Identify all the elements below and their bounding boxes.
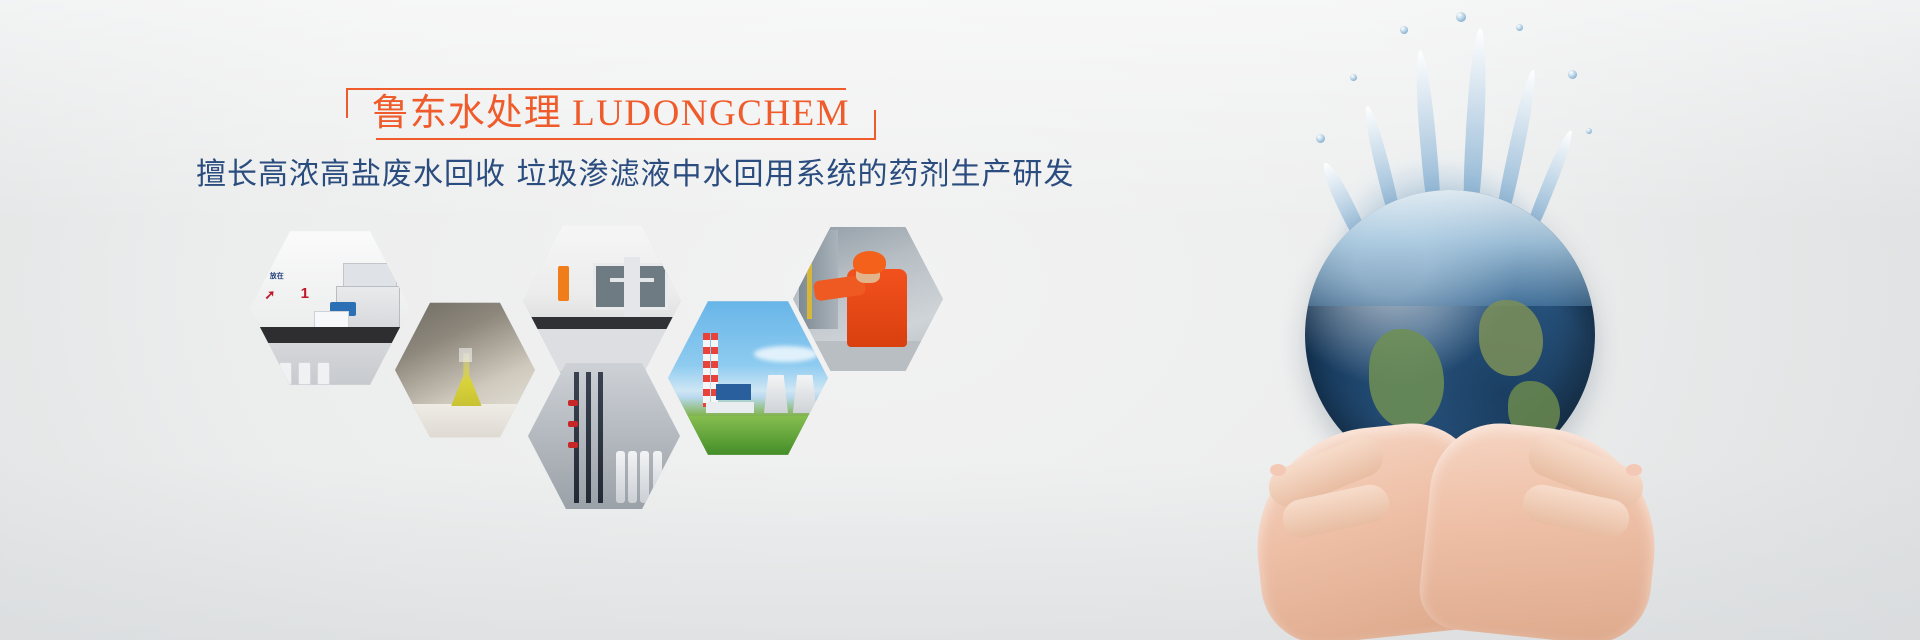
title-rule-top bbox=[346, 88, 846, 90]
membrane-vessel bbox=[640, 451, 649, 503]
headline-block: 鲁东水处理 LUDONGCHEM 擅长高浓高盐废水回收 垃圾渗滤液中水回用系统的… bbox=[196, 88, 1026, 194]
water-globe-illustration bbox=[1160, 0, 1920, 640]
red-valve bbox=[568, 442, 578, 448]
hexagon-lab-glassware bbox=[523, 222, 681, 380]
photo-power-plant bbox=[668, 298, 828, 458]
wall-slogan-small: 放在 bbox=[270, 271, 284, 281]
bracket-left-icon bbox=[346, 88, 348, 118]
wall-slogan-arrow: ➚ bbox=[264, 287, 275, 303]
lab-orange-stand bbox=[558, 266, 569, 301]
brand-title-cn: 鲁东水处理 bbox=[372, 93, 572, 134]
photo-lab-glassware bbox=[523, 222, 681, 380]
bracket-right-icon bbox=[874, 110, 876, 140]
red-valve bbox=[568, 421, 578, 427]
lab-jug bbox=[317, 362, 330, 384]
table-surface bbox=[395, 404, 535, 440]
chimney-stack bbox=[703, 333, 710, 407]
photo-yellow-flask bbox=[395, 300, 535, 440]
lab-bench bbox=[250, 327, 410, 343]
cooling-tower bbox=[764, 375, 788, 413]
fingernail bbox=[1270, 464, 1286, 476]
wall-slogan-number: 1 bbox=[301, 285, 309, 302]
brand-title-en: LUDONGCHEM bbox=[572, 93, 850, 134]
membrane-vessel bbox=[616, 451, 625, 503]
hexagon-worker bbox=[793, 224, 943, 374]
photo-worker bbox=[793, 224, 943, 374]
membrane-vessel bbox=[628, 451, 637, 503]
hexagon-power-plant bbox=[668, 298, 828, 458]
hands-holding-globe bbox=[1256, 368, 1656, 638]
globe-continent bbox=[1479, 300, 1543, 375]
fingernail bbox=[1626, 464, 1642, 476]
red-valve bbox=[568, 400, 578, 406]
banner-subtitle: 擅长高浓高盐废水回收 垃圾渗滤液中水回用系统的药剂生产研发 bbox=[196, 156, 1026, 194]
photo-ro-membrane-skid bbox=[528, 360, 680, 512]
lab-jug bbox=[298, 362, 311, 384]
safety-helmet-icon bbox=[853, 251, 886, 274]
flask-neck bbox=[459, 348, 472, 362]
skid-pipe bbox=[598, 372, 603, 503]
skid-pipe bbox=[586, 372, 591, 503]
cooling-tower bbox=[793, 375, 817, 413]
hexagon-laboratory-room: 放在 ➚ 1 bbox=[250, 228, 410, 388]
photo-laboratory-room: 放在 ➚ 1 bbox=[250, 228, 410, 388]
wall-slogan: 放在 ➚ 1 bbox=[264, 271, 331, 306]
hexagon-ro-membrane-skid bbox=[528, 360, 680, 512]
lab-floor bbox=[250, 343, 410, 388]
globe-water-surface bbox=[1305, 190, 1595, 306]
title-rule-bottom bbox=[376, 138, 876, 140]
brand-title-text: 鲁东水处理 LUDONGCHEM bbox=[372, 93, 850, 134]
lab-jug bbox=[279, 362, 292, 384]
brand-title: 鲁东水处理 LUDONGCHEM bbox=[346, 88, 876, 142]
plant-building-blue bbox=[716, 384, 751, 400]
membrane-vessel bbox=[653, 451, 662, 503]
hero-banner: 鲁东水处理 LUDONGCHEM 擅长高浓高盐废水回收 垃圾渗滤液中水回用系统的… bbox=[0, 0, 1920, 640]
lab-bench bbox=[523, 317, 681, 330]
skid-pipe bbox=[574, 372, 579, 503]
cloud bbox=[754, 346, 818, 362]
hexagon-yellow-flask bbox=[395, 300, 535, 440]
plant-building bbox=[706, 402, 754, 413]
green-field bbox=[668, 416, 828, 458]
